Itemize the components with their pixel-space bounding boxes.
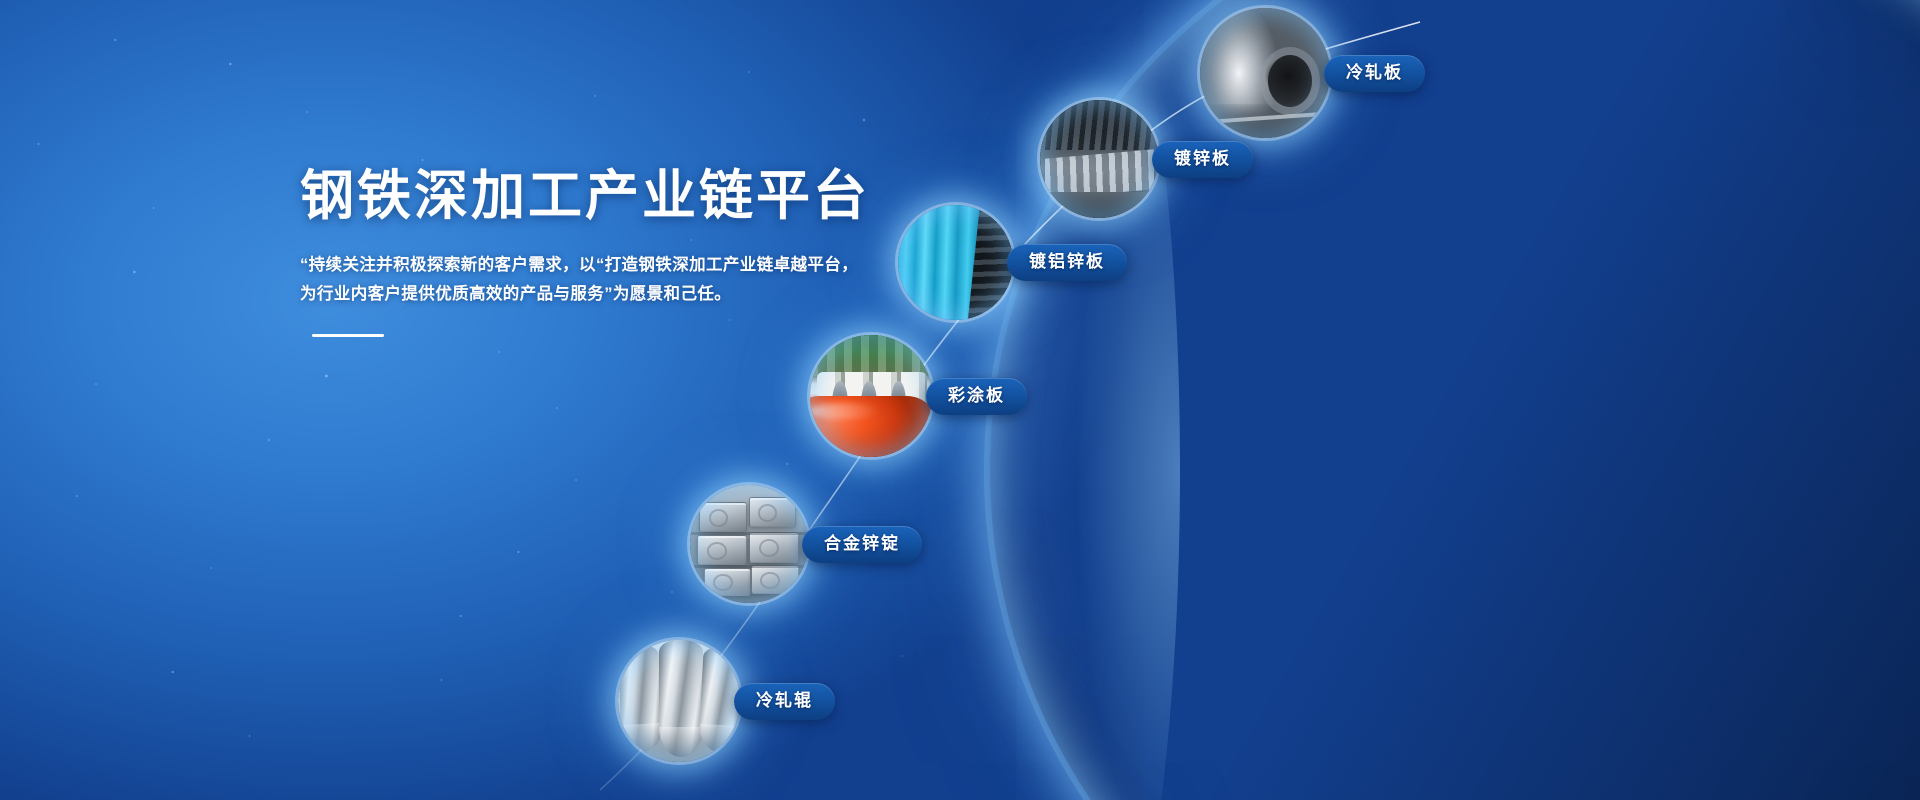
product-label-cold-roll[interactable]: 冷轧辊	[734, 683, 835, 720]
zinc-alloy-ingot-photo	[690, 485, 808, 603]
product-node-color-coated[interactable]: 彩涂板	[810, 335, 1027, 457]
product-label-galvalume[interactable]: 镀铝锌板	[1007, 244, 1127, 281]
product-node-galvanized[interactable]: 镀锌板	[1040, 100, 1253, 218]
hero-subtitle: “持续关注并积极探索新的客户需求，以“打造钢铁深加工产业链卓越平台， 为行业内客…	[300, 251, 862, 309]
galvanized-warehouse-photo	[1040, 100, 1158, 218]
product-node-galvalume[interactable]: 镀铝锌板	[898, 205, 1127, 320]
hero-subtitle-line2: 为行业内客户提供优质高效的产品与服务”为愿景和己任。	[300, 285, 731, 303]
product-label-cold-rolled[interactable]: 冷轧板	[1324, 55, 1425, 92]
product-node-zinc-ingot[interactable]: 合金锌锭	[690, 485, 922, 603]
page-title: 钢铁深加工产业链平台	[300, 165, 920, 229]
color-coated-coil-photo	[810, 335, 932, 457]
title-divider	[312, 334, 384, 337]
galvalume-sheet-photo	[898, 205, 1013, 320]
product-label-zinc-ingot[interactable]: 合金锌锭	[802, 526, 922, 563]
hero-subtitle-line1: “持续关注并积极探索新的客户需求，以“打造钢铁深加工产业链卓越平台，	[300, 256, 858, 274]
hero-copy: 钢铁深加工产业链平台 “持续关注并积极探索新的客户需求，以“打造钢铁深加工产业链…	[300, 165, 920, 337]
product-label-galvanized[interactable]: 镀锌板	[1152, 141, 1253, 178]
hero-banner: 钢铁深加工产业链平台 “持续关注并积极探索新的客户需求，以“打造钢铁深加工产业链…	[0, 0, 1920, 800]
cold-roll-roller-photo	[618, 640, 740, 762]
product-node-cold-roll[interactable]: 冷轧辊	[618, 640, 835, 762]
product-label-color-coated[interactable]: 彩涂板	[926, 378, 1027, 415]
